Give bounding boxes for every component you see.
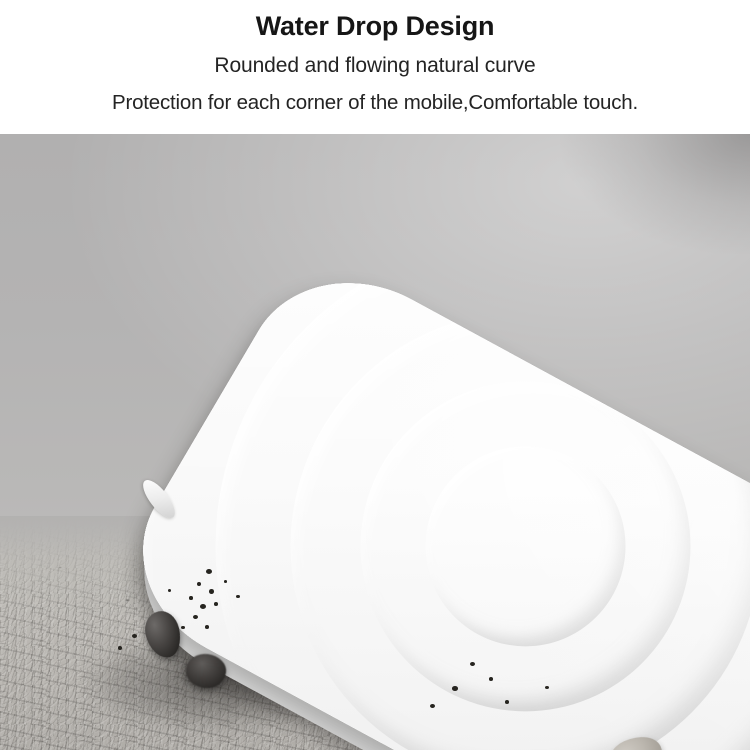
- product-photo: [0, 134, 750, 750]
- subtitle-line-2: Protection for each corner of the mobile…: [0, 78, 750, 115]
- product-marketing-image: Water Drop Design Rounded and flowing na…: [0, 0, 750, 750]
- subtitle-line-1: Rounded and flowing natural curve: [0, 41, 750, 78]
- case-contact-shadow: [170, 604, 690, 714]
- page-title: Water Drop Design: [0, 0, 750, 41]
- marketing-header: Water Drop Design Rounded and flowing na…: [0, 0, 750, 134]
